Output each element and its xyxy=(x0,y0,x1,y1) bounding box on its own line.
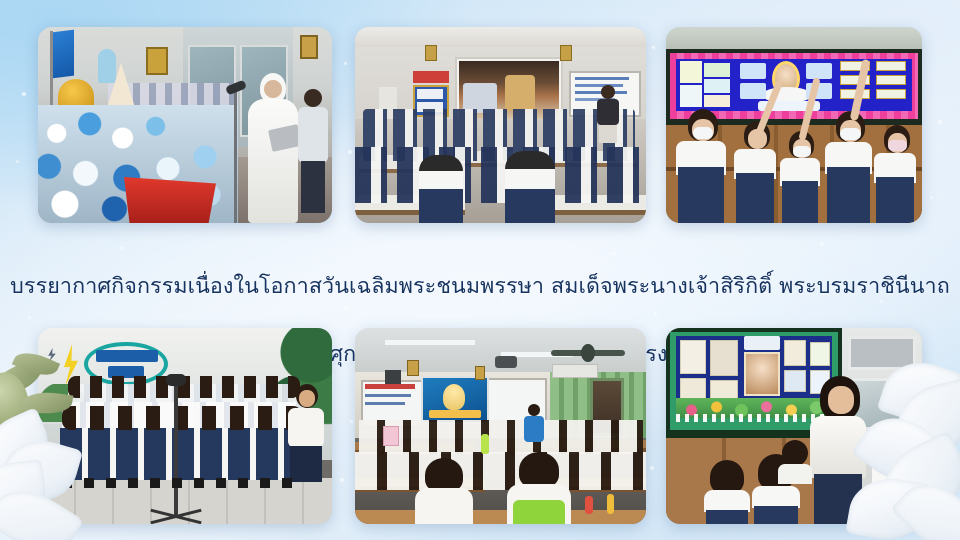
photo-classroom-seated[interactable] xyxy=(355,328,646,524)
sparkle-dot xyxy=(340,478,344,482)
photo-choir-energy-lab[interactable] xyxy=(38,328,332,524)
photo-bulletin-board-pointing[interactable] xyxy=(666,27,922,223)
slide-canvas: บรรยากาศกิจกรรมเนื่องในโอกาสวันเฉลิมพระช… xyxy=(0,0,960,540)
photo-bulletin-board-pointing-content xyxy=(666,27,922,223)
sparkle-dot xyxy=(938,120,942,124)
sparkle-dot xyxy=(348,150,352,154)
photo-teacher-display-board[interactable] xyxy=(666,328,922,524)
sparkle-dot xyxy=(22,92,26,96)
photo-choir-energy-lab-content xyxy=(38,328,332,524)
photo-ceremony-flowers[interactable] xyxy=(38,27,332,223)
sparkle-dot xyxy=(650,466,654,470)
photo-classroom-seated-content xyxy=(355,328,646,524)
sparkle-dot xyxy=(930,196,933,199)
sparkle-dot xyxy=(344,62,347,65)
photo-teacher-display-board-content xyxy=(666,328,922,524)
photo-classroom-projector[interactable] xyxy=(355,27,646,223)
sparkle-dot xyxy=(652,46,655,49)
photo-ceremony-flowers-content xyxy=(38,27,332,223)
sparkle-dot xyxy=(16,160,19,163)
photo-classroom-projector-content xyxy=(355,27,646,223)
caption-line-1: บรรยากาศกิจกรรมเนื่องในโอกาสวันเฉลิมพระช… xyxy=(0,270,960,304)
sparkle-dot xyxy=(350,420,353,423)
